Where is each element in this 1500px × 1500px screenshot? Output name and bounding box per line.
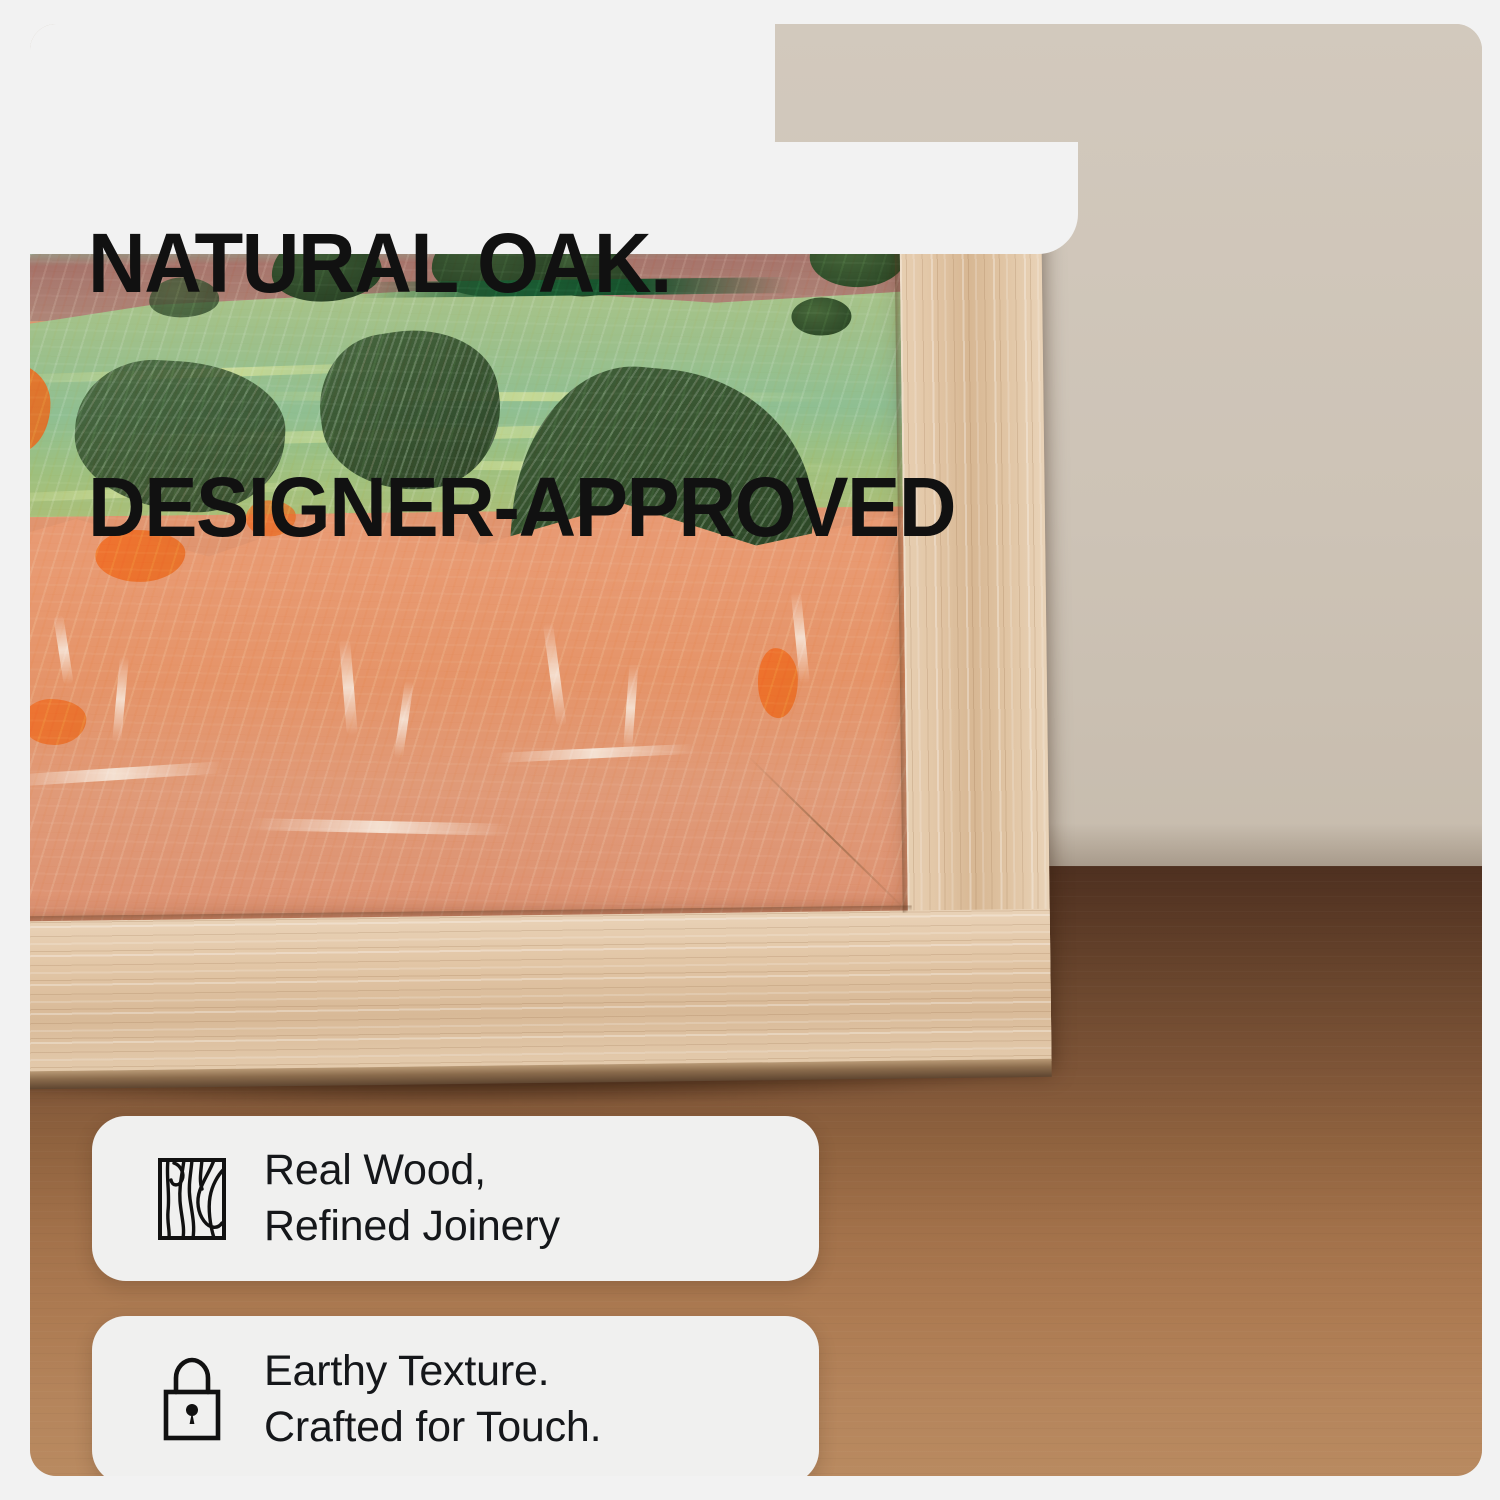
feature-badge-label: Earthy Texture. Crafted for Touch. bbox=[264, 1344, 601, 1456]
feature-badge-label: Real Wood, Refined Joinery bbox=[264, 1143, 560, 1255]
feature-badge-real-wood[interactable]: Real Wood, Refined Joinery bbox=[92, 1116, 819, 1281]
wood-grain-icon bbox=[144, 1153, 240, 1245]
frame-rail-bottom bbox=[30, 909, 1052, 1074]
product-image-canvas: NATURAL OAK. DESIGNER-APPROVED Real Wood… bbox=[0, 0, 1500, 1500]
framed-artwork bbox=[30, 210, 1090, 1104]
feature-badge-earthy-texture[interactable]: Earthy Texture. Crafted for Touch. bbox=[92, 1316, 819, 1476]
padlock-icon bbox=[144, 1354, 240, 1446]
product-photo: NATURAL OAK. DESIGNER-APPROVED Real Wood… bbox=[30, 24, 1482, 1476]
oak-picture-frame bbox=[30, 211, 1052, 1074]
frame-mitre-joint bbox=[748, 753, 910, 915]
